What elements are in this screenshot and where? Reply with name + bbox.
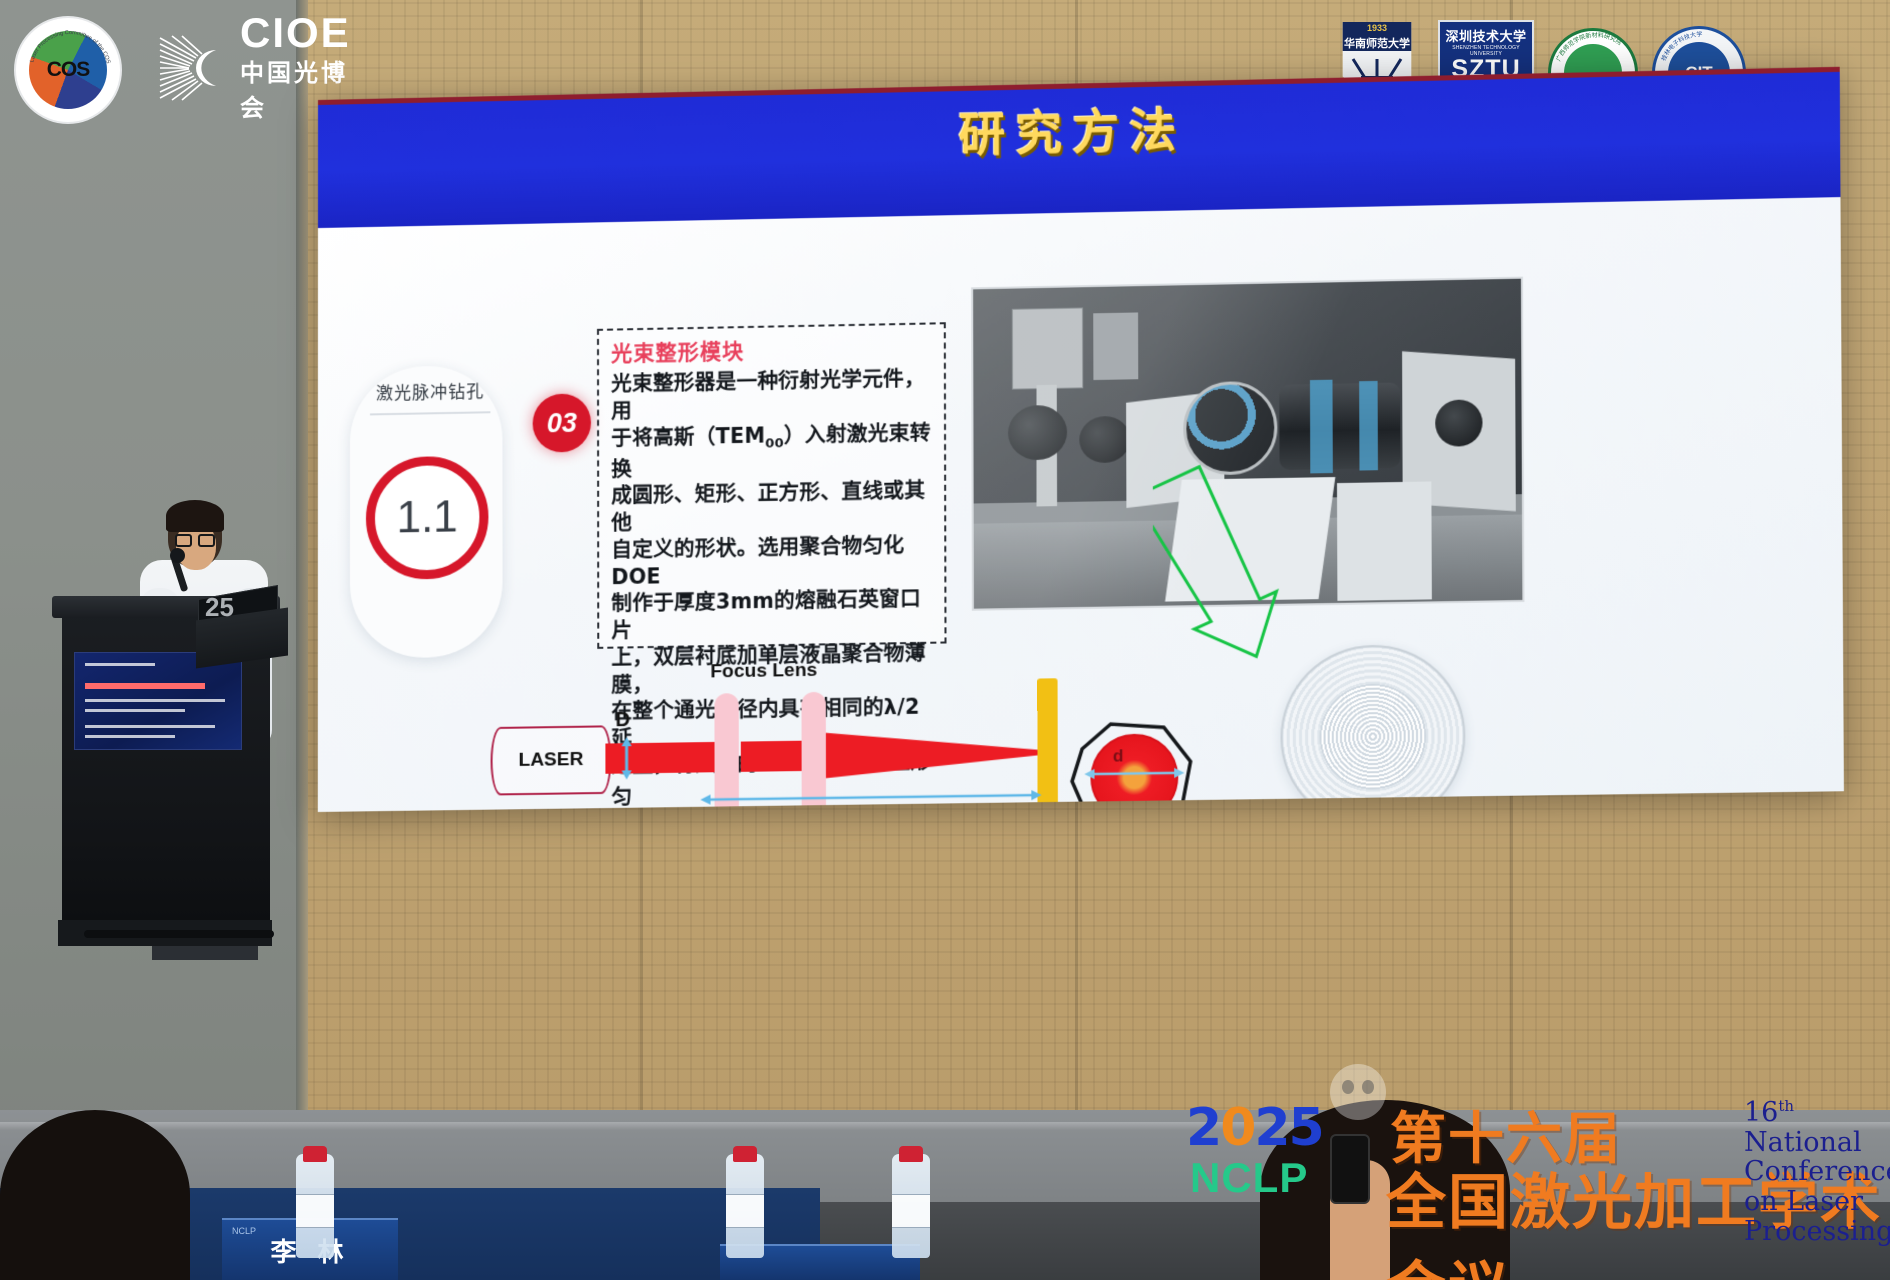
green-pointer-arrow-icon [1153, 460, 1358, 676]
description-line: 自定义的形状。选用聚合物匀化DOE [611, 531, 934, 590]
audience-nameplate-tag: NCLP [232, 1226, 256, 1236]
water-bottle-cap [733, 1146, 757, 1162]
description-line: 于将高斯（TEM00）入射激光束转换 [611, 419, 934, 483]
scnu-year: 1933 [1341, 23, 1413, 33]
screenshot-stage: COS Laser Processing Committee of the CO… [0, 0, 1890, 1280]
cioe-mark-icon [156, 32, 228, 104]
sztu-cn-name: 深圳技术大学 [1440, 26, 1532, 45]
conference-banner: 2025 NCLP 第十六届 全国激光加工学术会议 16th National … [1186, 1098, 1886, 1228]
laser-source-label: LASER [491, 725, 612, 795]
water-bottle-label [296, 1194, 334, 1228]
banner-org: NCLP [1190, 1154, 1308, 1202]
projection-screen: 研究方法 激光脉冲钻孔 1.1 03 光束整形模块 光束整形器是一种衍射光学元件… [318, 67, 1844, 812]
presenter-glasses-lens [175, 534, 192, 547]
description-line: 成圆形、矩形、正方形、直线或其他 [611, 477, 934, 536]
microphone-head [170, 548, 185, 563]
beam-diameter-arrow-icon [620, 737, 634, 780]
description-textbox: 光束整形模块 光束整形器是一种衍射光学元件，用 于将高斯（TEM00）入射激光束… [597, 322, 947, 649]
banner-year: 2025 [1186, 1098, 1323, 1158]
presenter-glasses-lens [198, 534, 215, 547]
svg-text:Laser Processing Committee of: Laser Processing Committee of the COS [29, 30, 111, 65]
cioe-en-label: CIOE [240, 13, 366, 53]
banner-en-line2: on Laser Processing [1744, 1187, 1890, 1246]
description-line: 光束整形器是一种衍射光学元件，用 [611, 365, 934, 425]
spot-diameter-arrow-icon [1084, 766, 1184, 782]
left-card-label: 激光脉冲钻孔 [340, 377, 521, 405]
svg-text:广西师范学院新材料研究院: 广西师范学院新材料研究院 [1554, 31, 1623, 62]
water-bottle-label [892, 1194, 930, 1228]
beam-diameter-D-label: D [615, 709, 630, 732]
podium-number: 25 [205, 592, 234, 623]
scnu-cn-name: 华南师范大学 [1341, 35, 1413, 51]
banner-en: 16th National Conference on Laser Proces… [1744, 1098, 1890, 1246]
podium-cable [84, 930, 274, 938]
focus-lens-label: Focus Lens [710, 660, 817, 684]
cos-logo-ring-text: Laser Processing Committee of the COS [24, 26, 116, 118]
podium-confidence-monitor [74, 652, 242, 750]
banner-en-line1: 16th National Conference [1744, 1098, 1890, 1187]
section-badge-03: 03 [533, 393, 591, 452]
slide-content-area: 激光脉冲钻孔 1.1 03 光束整形模块 光束整形器是一种衍射光学元件，用 于将… [318, 197, 1844, 812]
water-bottle-cap [899, 1146, 923, 1162]
audience-head-foreground [0, 1110, 190, 1280]
description-line: 制作于厚度3mm的熔融石英窗口片 [611, 585, 934, 644]
water-bottle-cap [303, 1146, 327, 1162]
cos-logo: COS Laser Processing Committee of the CO… [14, 16, 122, 124]
description-heading: 光束整形模块 [611, 332, 934, 368]
watermark-icon [1330, 1064, 1386, 1120]
spot-diameter-d-label: d [1113, 746, 1124, 766]
beam-segment [741, 741, 802, 772]
water-bottle-label [726, 1194, 764, 1228]
presenter-hair [166, 500, 224, 532]
wall-corner-edge [296, 0, 308, 1200]
svg-text:桂林电子科技大学: 桂林电子科技大学 [1659, 30, 1702, 62]
